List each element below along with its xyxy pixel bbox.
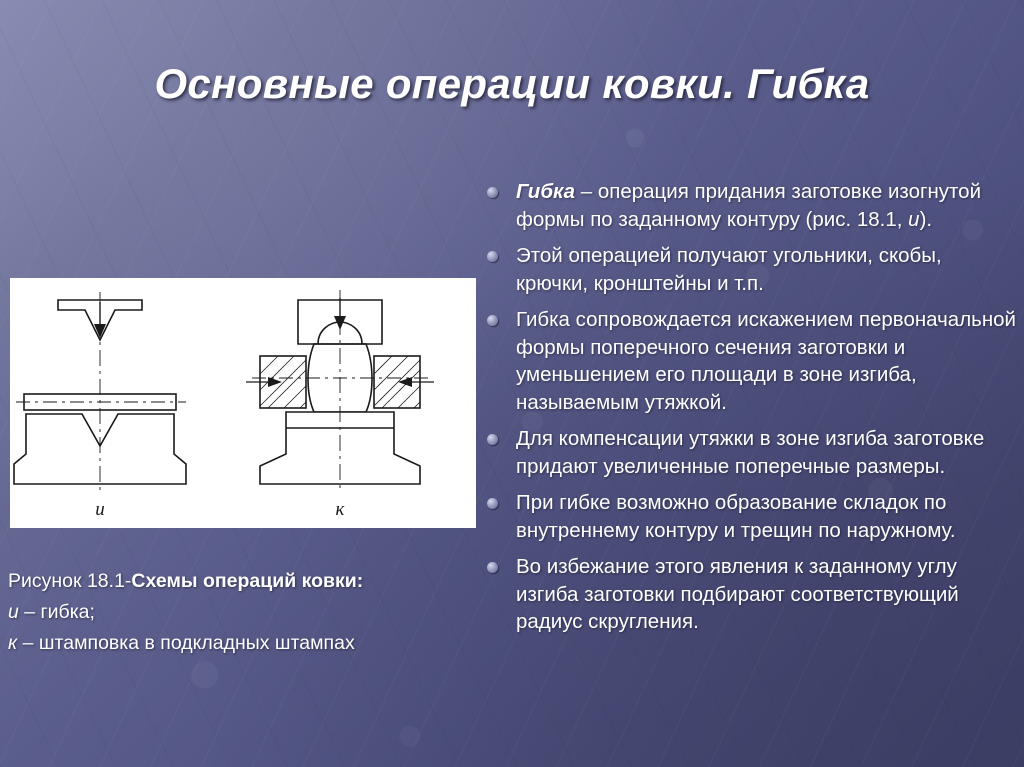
list-item: При гибке возможно образование складок п… — [480, 489, 1018, 544]
list-item: Гибка сопровождается искажением первонач… — [480, 306, 1018, 416]
caption-line-3: к – штамповка в подкладных штампах — [8, 628, 508, 659]
bullet-text: Гибка сопровождается искажением первонач… — [516, 308, 1016, 414]
list-item: Гибка – операция придания заготовке изог… — [480, 178, 1018, 233]
figure-label-left: и — [95, 499, 105, 520]
bullet-dot-icon — [487, 434, 498, 445]
list-item: Во избежание этого явления к заданному у… — [480, 553, 1018, 636]
presentation-slide: Основные операции ковки. Гибка — [0, 0, 1024, 767]
page-title: Основные операции ковки. Гибка — [0, 58, 1024, 110]
bullet-text: Во избежание этого явления к заданному у… — [516, 555, 959, 633]
figure-caption: Рисунок 18.1-Схемы операций ковки: и – г… — [8, 566, 508, 659]
bullet-ref-italic: и — [908, 208, 919, 231]
bullet-dot-icon — [487, 251, 498, 262]
bullet-dot-icon — [487, 498, 498, 509]
bullet-lead-term: Гибка — [516, 180, 575, 203]
bullet-dot-icon — [487, 187, 498, 198]
bullet-text-tail: ). — [920, 208, 933, 231]
caption-key-k: к — [8, 632, 17, 654]
bullet-text: Для компенсации утяжки в зоне изгиба заг… — [516, 427, 984, 478]
bullet-list: Гибка – операция придания заготовке изог… — [480, 178, 1018, 645]
caption-key-i-text: – гибка; — [19, 601, 95, 623]
bullet-text: Этой операцией получают угольники, скобы… — [516, 244, 942, 295]
caption-figure-title: Схемы операций ковки: — [131, 570, 363, 592]
caption-figure-number: Рисунок 18.1- — [8, 570, 131, 592]
forging-schemes-diagram: и — [10, 278, 476, 528]
figure-image: и — [10, 278, 476, 528]
caption-line-1: Рисунок 18.1-Схемы операций ковки: — [8, 566, 508, 597]
caption-key-i: и — [8, 601, 19, 623]
bullet-text: При гибке возможно образование складок п… — [516, 491, 956, 542]
list-item: Для компенсации утяжки в зоне изгиба заг… — [480, 425, 1018, 480]
figure-label-right: к — [336, 499, 346, 520]
caption-line-2: и – гибка; — [8, 597, 508, 628]
list-item: Этой операцией получают угольники, скобы… — [480, 242, 1018, 297]
bullet-dot-icon — [487, 315, 498, 326]
bullet-dot-icon — [487, 562, 498, 573]
caption-key-k-text: – штамповка в подкладных штампах — [17, 632, 354, 654]
